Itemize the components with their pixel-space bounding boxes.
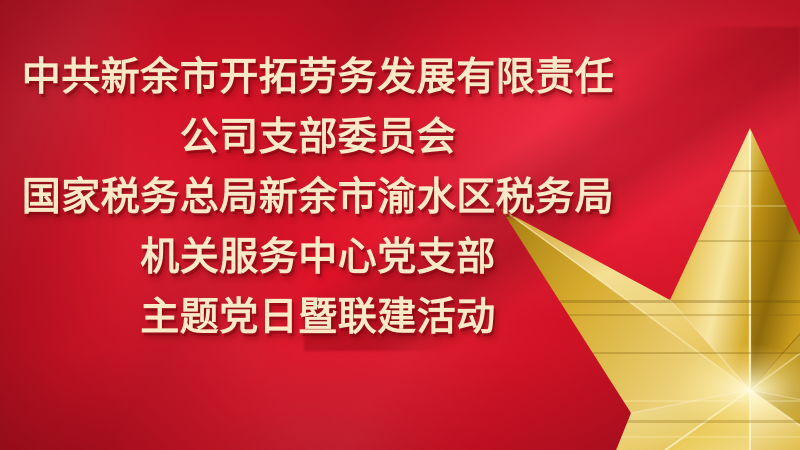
headline-line-4: 机关服务中心党支部 bbox=[0, 228, 636, 288]
headline-line-2: 公司支部委员会 bbox=[0, 108, 636, 168]
headline-line-3: 国家税务总局新余市渝水区税务局 bbox=[0, 168, 636, 228]
headline-line-1: 中共新余市开拓劳务发展有限责任 bbox=[0, 48, 636, 108]
headline-line-5: 主题党日暨联建活动 bbox=[0, 288, 636, 348]
poster-headline-block: 中共新余市开拓劳务发展有限责任 公司支部委员会 国家税务总局新余市渝水区税务局 … bbox=[0, 48, 636, 348]
poster-canvas: 中共新余市开拓劳务发展有限责任 公司支部委员会 国家税务总局新余市渝水区税务局 … bbox=[0, 0, 800, 450]
